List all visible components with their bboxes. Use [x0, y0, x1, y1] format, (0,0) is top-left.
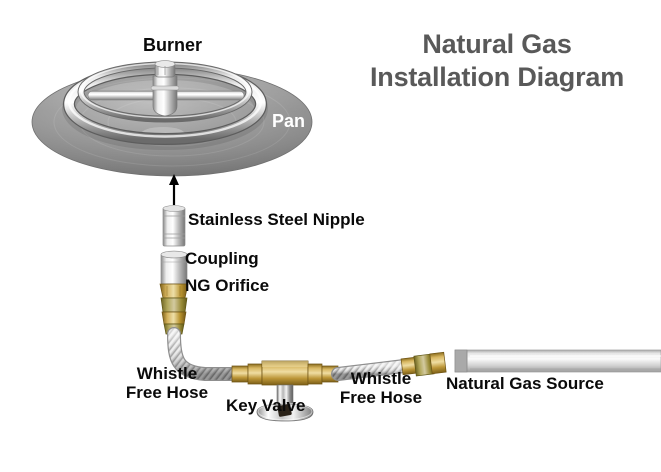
stainless-steel-nipple-component: [163, 206, 185, 247]
ng-orifice-component: [160, 284, 188, 334]
label-burner: Burner: [143, 36, 202, 55]
label-pan: Pan: [272, 112, 305, 131]
label-stainless-steel-nipple: Stainless Steel Nipple: [188, 210, 365, 229]
diagram-canvas: Natural Gas Installation Diagram Burner …: [0, 0, 661, 472]
page-title-line2: Installation Diagram: [347, 61, 647, 94]
label-hose-right-line2: Free Hose: [340, 388, 422, 407]
label-natural-gas-source: Natural Gas Source: [446, 374, 604, 393]
coupling-component: [161, 251, 187, 284]
label-hose-right-line1: Whistle: [351, 369, 411, 388]
label-whistle-free-hose-right: Whistle Free Hose: [331, 369, 431, 407]
label-hose-left-line2: Free Hose: [126, 383, 208, 402]
natural-gas-source-component: [455, 350, 661, 372]
label-ng-orifice: NG Orifice: [185, 276, 269, 295]
label-coupling: Coupling: [185, 249, 259, 268]
page-title-line1: Natural Gas: [347, 28, 647, 61]
burner-hub: [151, 61, 179, 116]
flow-arrow-icon: [169, 174, 179, 205]
label-key-valve: Key Valve: [226, 396, 305, 415]
label-whistle-free-hose-left: Whistle Free Hose: [117, 364, 217, 402]
label-hose-left-line1: Whistle: [137, 364, 197, 383]
